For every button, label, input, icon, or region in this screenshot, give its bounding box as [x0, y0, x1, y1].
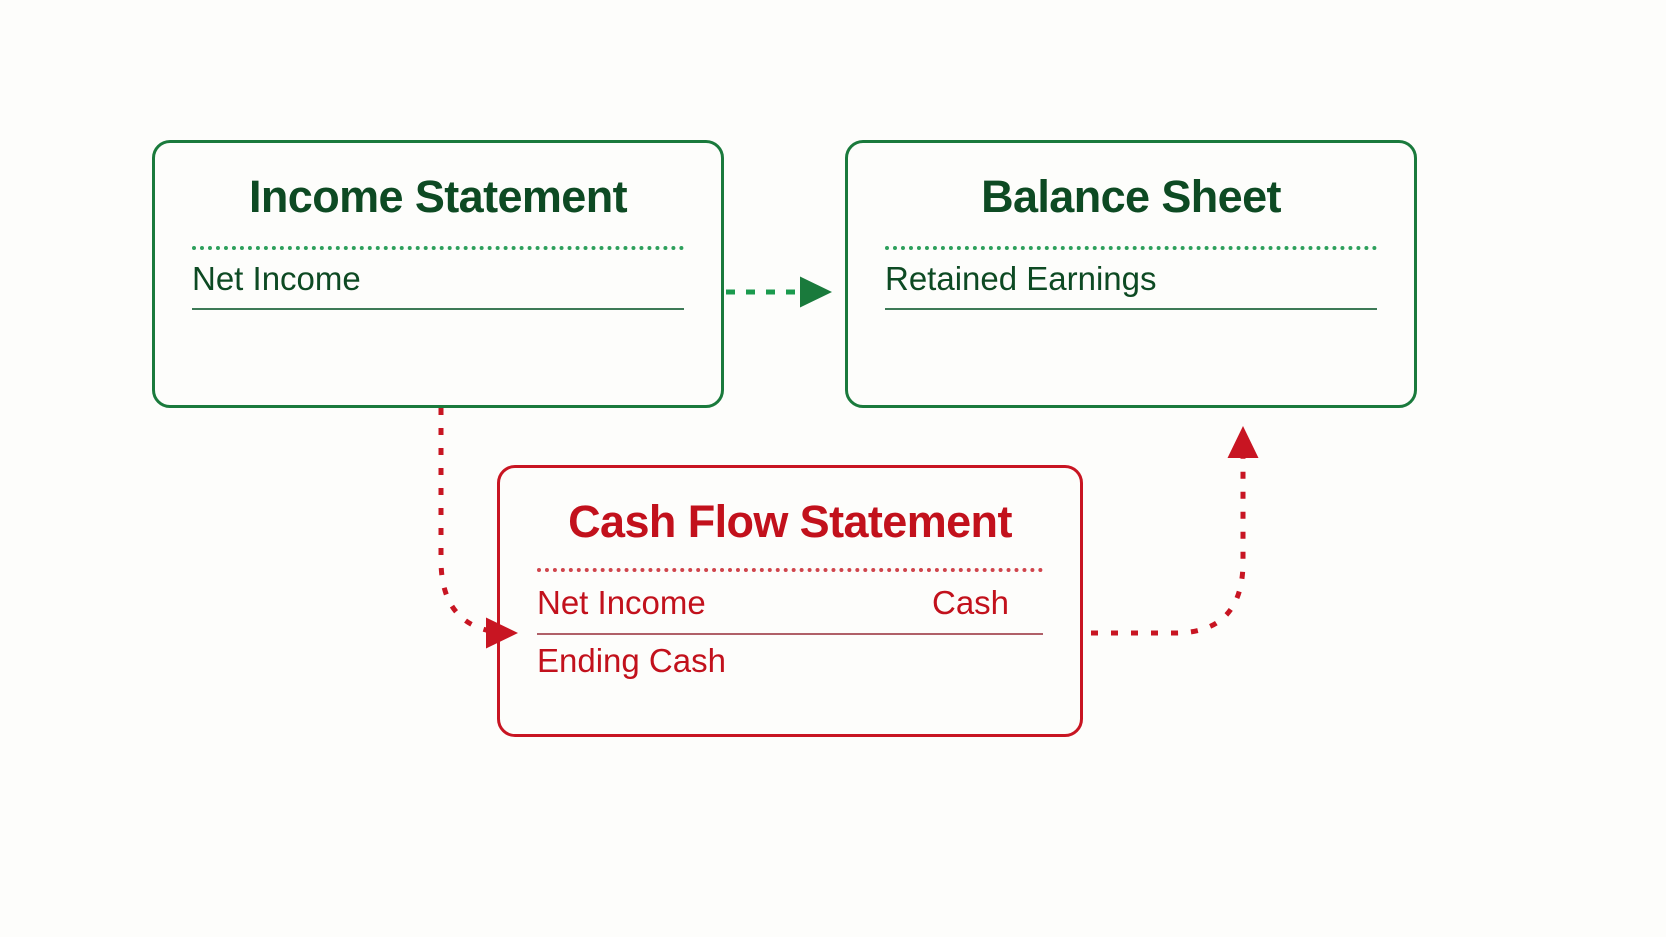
balance-sheet-title-divider: [885, 246, 1377, 250]
balance-sheet-row-divider: [885, 308, 1377, 310]
balance-sheet-title: Balance Sheet: [848, 171, 1414, 223]
cash-flow-row-cash: Cash: [932, 584, 1009, 622]
cash-flow-row-ending-cash: Ending Cash: [537, 642, 726, 680]
income-statement-row-net-income: Net Income: [192, 260, 361, 298]
cash-flow-row-net-income: Net Income: [537, 584, 706, 622]
card-balance-sheet[interactable]: Balance Sheet Retained Earnings: [845, 140, 1417, 408]
cash-flow-row-divider: [537, 633, 1043, 635]
card-cash-flow-statement[interactable]: Cash Flow Statement Net Income Cash Endi…: [497, 465, 1083, 737]
card-income-statement[interactable]: Income Statement Net Income: [152, 140, 724, 408]
balance-sheet-row-retained-earnings: Retained Earnings: [885, 260, 1157, 298]
diagram-canvas: Income Statement Net Income Balance Shee…: [0, 0, 1666, 937]
income-statement-row-divider: [192, 308, 684, 310]
connector-ending-cash-to-balance-sheet: [1091, 432, 1243, 633]
cash-flow-statement-title-divider: [537, 568, 1043, 572]
income-statement-title: Income Statement: [155, 171, 721, 223]
income-statement-title-divider: [192, 246, 684, 250]
cash-flow-statement-title: Cash Flow Statement: [500, 496, 1080, 548]
